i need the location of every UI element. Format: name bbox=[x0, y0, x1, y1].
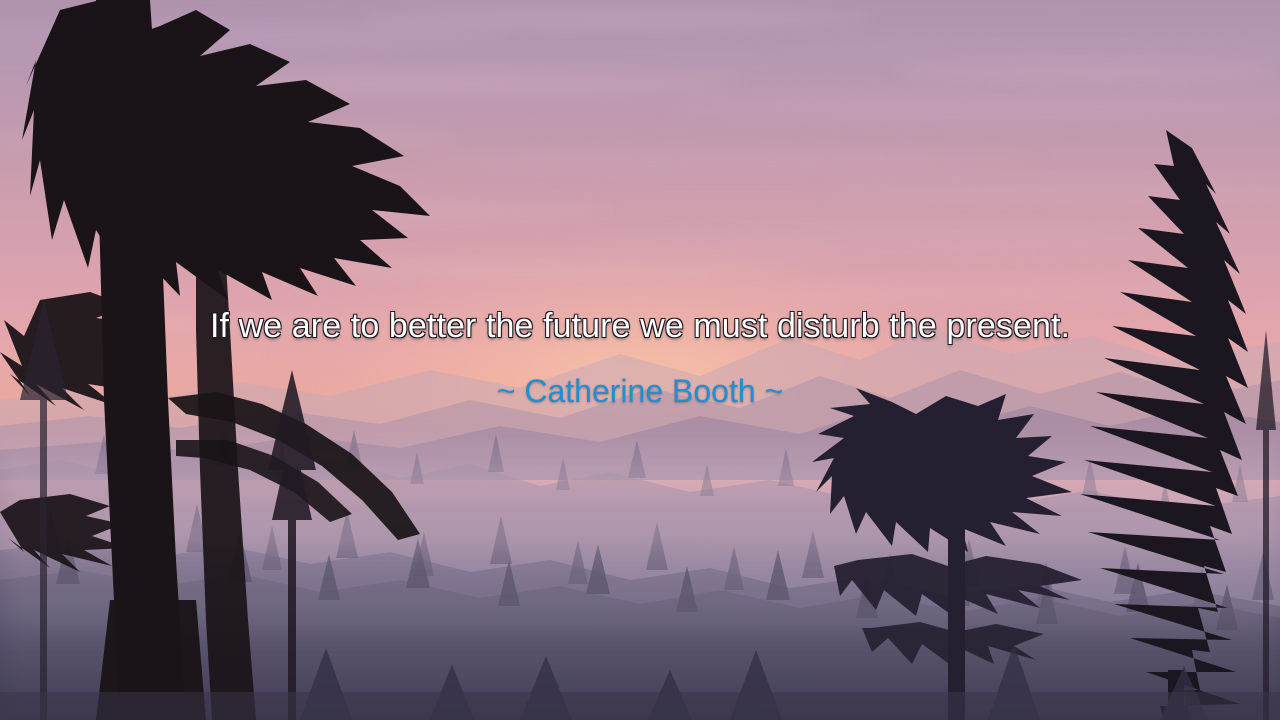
quote-block: If we are to better the future we must d… bbox=[0, 306, 1280, 410]
bottom-silhouette-band bbox=[0, 620, 1280, 720]
wallpaper-canvas: If we are to better the future we must d… bbox=[0, 0, 1280, 720]
quote-text: If we are to better the future we must d… bbox=[0, 306, 1280, 346]
quote-attribution: ~ Catherine Booth ~ bbox=[0, 372, 1280, 410]
